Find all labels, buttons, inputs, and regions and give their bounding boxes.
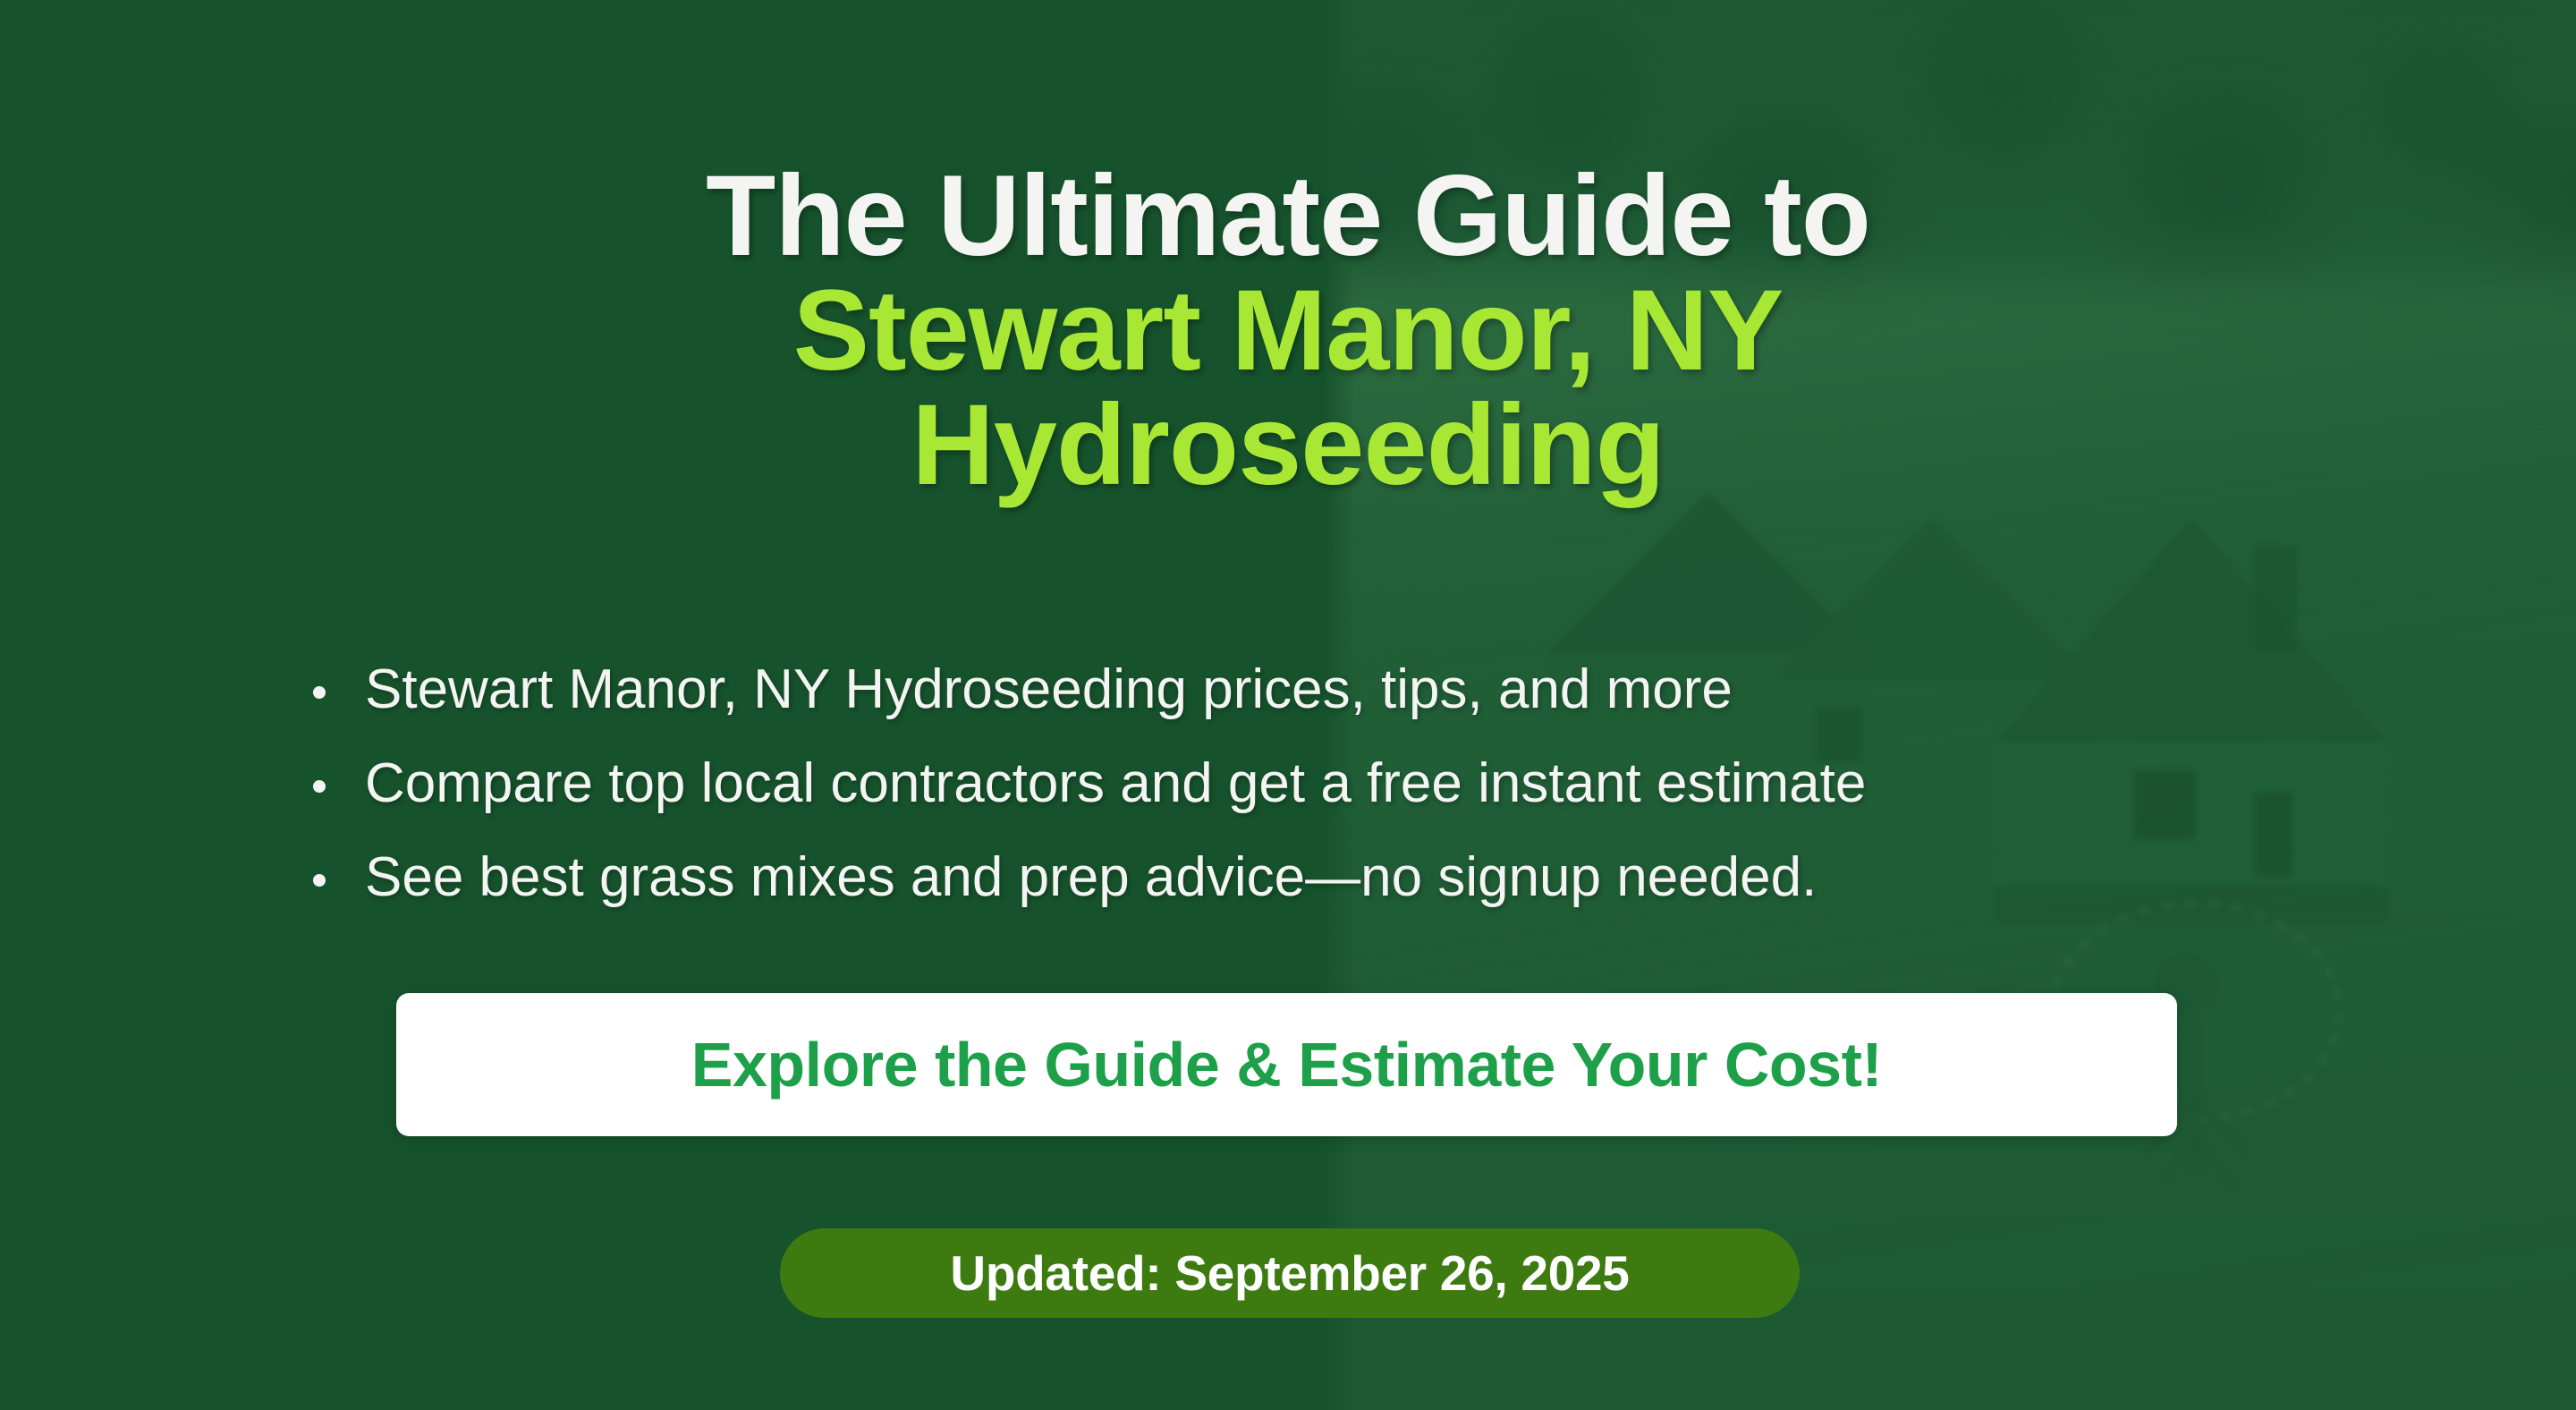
headline-line-3: Hydroseeding — [0, 388, 2576, 503]
feature-bullet-list: Stewart Manor, NY Hydroseeding prices, t… — [304, 662, 2317, 944]
hero-banner: The Ultimate Guide to Stewart Manor, NY … — [0, 0, 2576, 1410]
explore-guide-cta-button[interactable]: Explore the Guide & Estimate Your Cost! — [396, 993, 2177, 1136]
list-item: See best grass mixes and prep advice—no … — [304, 850, 2317, 905]
page-title: The Ultimate Guide to Stewart Manor, NY … — [0, 159, 2576, 503]
bullet-dot-icon — [313, 780, 326, 793]
headline-line-1: The Ultimate Guide to — [0, 159, 2576, 274]
list-item-label: Stewart Manor, NY Hydroseeding prices, t… — [365, 658, 1733, 720]
list-item-label: Compare top local contractors and get a … — [365, 752, 1866, 814]
banner-content: The Ultimate Guide to Stewart Manor, NY … — [0, 0, 2576, 1410]
list-item: Compare top local contractors and get a … — [304, 756, 2317, 811]
bullet-dot-icon — [313, 686, 326, 699]
updated-date-label: Updated: September 26, 2025 — [950, 1244, 1629, 1302]
cta-button-label: Explore the Guide & Estimate Your Cost! — [691, 1029, 1883, 1100]
list-item: Stewart Manor, NY Hydroseeding prices, t… — [304, 662, 2317, 718]
list-item-label: See best grass mixes and prep advice—no … — [365, 846, 1817, 908]
bullet-dot-icon — [313, 874, 326, 887]
status-badge: Updated: September 26, 2025 — [780, 1228, 1800, 1318]
headline-line-2: Stewart Manor, NY — [0, 274, 2576, 388]
